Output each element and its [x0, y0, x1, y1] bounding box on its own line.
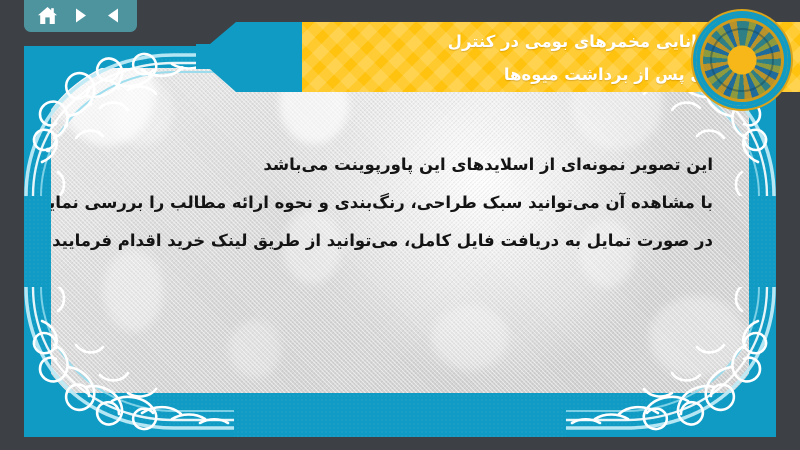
body-line-3: در صورت تمایل به دریافت فایل کامل، می‌تو… — [81, 222, 713, 260]
slide-viewer: این تصویر نمونه‌ای از اسلایدهای این پاور… — [0, 0, 800, 450]
banner-arrow-tab-icon — [196, 22, 316, 92]
slide-frame: این تصویر نمونه‌ای از اسلایدهای این پاور… — [24, 46, 776, 437]
bokeh-circle — [103, 250, 163, 332]
body-line-2: با مشاهده آن می‌توانید سبک طراحی، رنگ‌بن… — [81, 184, 713, 222]
slide-page: این تصویر نمونه‌ای از اسلایدهای این پاور… — [51, 68, 749, 393]
home-icon — [37, 6, 58, 25]
bokeh-circle — [649, 296, 745, 378]
previous-slide-button[interactable] — [101, 3, 127, 27]
slide-navigation-toolbar — [24, 0, 137, 32]
home-button[interactable] — [35, 3, 61, 27]
bokeh-circle — [109, 76, 173, 146]
islamic-medallion-icon — [696, 14, 788, 106]
bokeh-circle — [229, 320, 281, 378]
slide-body-text: این تصویر نمونه‌ای از اسلایدهای این پاور… — [51, 146, 749, 260]
bokeh-circle — [431, 306, 509, 370]
body-line-1: این تصویر نمونه‌ای از اسلایدهای این پاور… — [81, 146, 713, 184]
triangle-right-icon — [72, 7, 89, 24]
triangle-left-icon — [105, 7, 122, 24]
next-slide-button[interactable] — [68, 3, 94, 27]
